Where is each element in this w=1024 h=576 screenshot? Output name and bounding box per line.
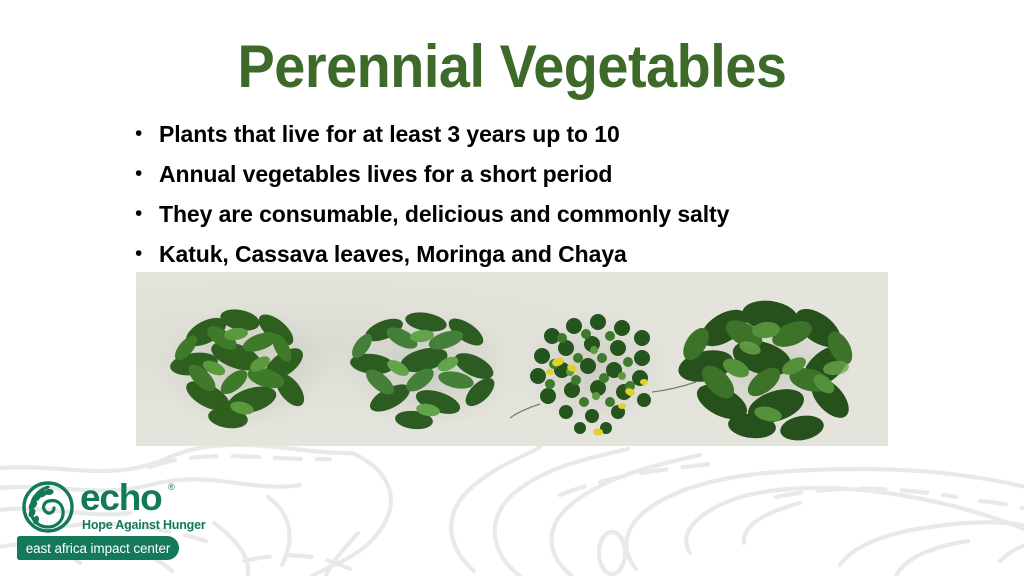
- impact-center-badge-label: east africa impact center: [26, 541, 171, 556]
- bullet-marker-icon: •: [131, 238, 159, 270]
- bullet-text: Katuk, Cassava leaves, Moringa and Chaya: [159, 238, 627, 270]
- list-item: • Annual vegetables lives for a short pe…: [131, 158, 931, 198]
- slide-canvas: Perennial Vegetables • Plants that live …: [0, 0, 1024, 576]
- moringa-leaves-pile: [510, 312, 696, 436]
- list-item: • Plants that live for at least 3 years …: [131, 118, 931, 158]
- registered-mark: ®: [168, 483, 175, 492]
- echo-logo: echo ® Hope Against Hunger: [18, 479, 193, 539]
- chaya-leaves-pile: [675, 297, 857, 443]
- katuk-leaves-pile: [158, 306, 330, 431]
- bullet-list: • Plants that live for at least 3 years …: [131, 118, 931, 278]
- impact-center-badge: east africa impact center: [17, 536, 179, 560]
- logo-tagline: Hope Against Hunger: [82, 518, 206, 532]
- vegetable-photo: [136, 272, 888, 446]
- echo-wordmark: echo: [80, 478, 162, 518]
- echo-leaf-circle-icon: [22, 481, 74, 533]
- bullet-text: They are consumable, delicious and commo…: [159, 198, 729, 230]
- bullet-marker-icon: •: [131, 198, 159, 230]
- bullet-marker-icon: •: [131, 158, 159, 190]
- bullet-marker-icon: •: [131, 118, 159, 150]
- slide-title: Perennial Vegetables: [36, 36, 988, 98]
- cassava-leaves-pile: [344, 309, 512, 430]
- bullet-text: Plants that live for at least 3 years up…: [159, 118, 620, 150]
- list-item: • They are consumable, delicious and com…: [131, 198, 931, 238]
- bullet-text: Annual vegetables lives for a short peri…: [159, 158, 612, 190]
